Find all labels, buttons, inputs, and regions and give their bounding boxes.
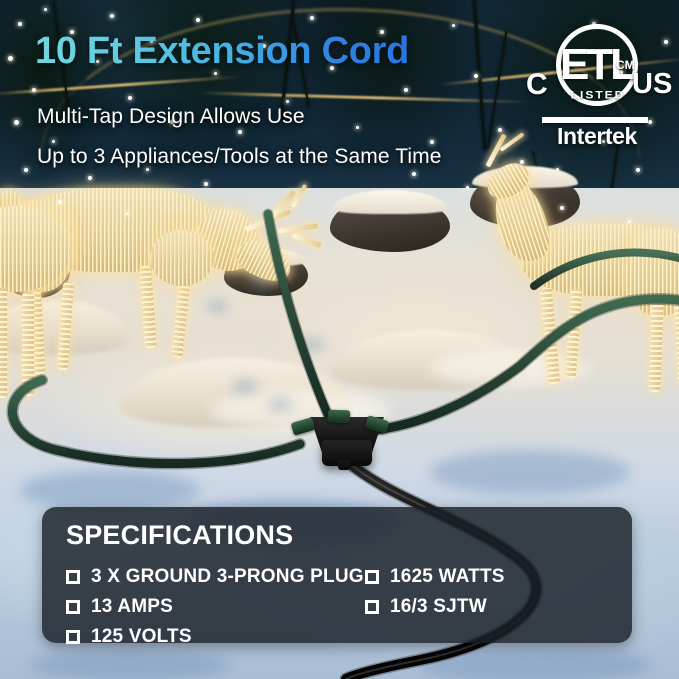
- fairy-light: [452, 24, 455, 27]
- subtitle-line-2: Up to 3 Appliances/Tools at the Same Tim…: [37, 145, 441, 169]
- product-marketing-image: 10 Ft Extension Cord Multi-Tap Design Al…: [0, 0, 679, 679]
- checkbox-icon: [66, 570, 80, 584]
- fairy-light: [520, 160, 524, 164]
- spec-list-item: 16/3 SJTW: [365, 592, 505, 622]
- specifications-panel: SPECIFICATIONS 3 X GROUND 3-PRONG PLUG 1…: [42, 507, 632, 643]
- spec-label: 1625 WATTS: [390, 566, 505, 588]
- fairy-light: [628, 220, 631, 223]
- fairy-light: [44, 8, 47, 11]
- fairy-light: [286, 100, 289, 103]
- cord-plug: [328, 410, 350, 424]
- etl-certification-badge: ETL CM LISTED C US Intertek: [520, 24, 672, 148]
- intertek-brand-text: Intertek: [542, 123, 652, 150]
- fairy-light: [238, 130, 242, 134]
- fairy-light: [24, 168, 28, 172]
- fairy-light: [430, 140, 434, 144]
- specifications-heading: SPECIFICATIONS: [66, 520, 293, 551]
- etl-us-mark: US: [632, 68, 672, 101]
- fairy-light: [126, 212, 129, 215]
- spec-label: 3 X GROUND 3-PRONG PLUG: [91, 566, 364, 588]
- specifications-left-column: 3 X GROUND 3-PRONG PLUG 13 AMPS 125 VOLT…: [66, 562, 364, 652]
- checkbox-icon: [365, 570, 379, 584]
- checkbox-icon: [66, 630, 80, 644]
- spec-list-item: 125 VOLTS: [66, 622, 364, 652]
- fairy-light: [404, 88, 408, 92]
- fairy-light: [204, 182, 208, 186]
- checkbox-icon: [365, 600, 379, 614]
- fairy-light: [560, 206, 564, 210]
- fairy-light: [556, 168, 559, 171]
- fairy-light: [110, 14, 114, 18]
- fairy-light: [32, 88, 36, 92]
- fairy-light: [52, 140, 55, 143]
- fairy-light: [14, 120, 19, 125]
- page-title: 10 Ft Extension Cord: [35, 28, 409, 74]
- fairy-light: [466, 186, 469, 189]
- fairy-light: [310, 16, 314, 20]
- subtitle-line-1: Multi-Tap Design Allows Use: [37, 105, 305, 129]
- spec-label: 16/3 SJTW: [390, 596, 487, 618]
- spec-label: 125 VOLTS: [91, 626, 192, 648]
- specifications-right-column: 1625 WATTS 16/3 SJTW: [365, 562, 505, 622]
- fairy-light: [412, 172, 416, 176]
- etl-canada-mark: C: [526, 68, 548, 102]
- fairy-light: [8, 56, 13, 61]
- spec-label: 13 AMPS: [91, 596, 173, 618]
- spec-list-item: 13 AMPS: [66, 592, 364, 622]
- fairy-light: [356, 126, 359, 129]
- fairy-light: [196, 18, 200, 22]
- spec-list-item: 1625 WATTS: [365, 562, 505, 592]
- fairy-light: [58, 200, 62, 204]
- cord-strain-relief: [338, 460, 350, 470]
- fairy-light: [128, 96, 132, 100]
- fairy-light: [474, 74, 478, 78]
- fairy-light: [88, 176, 92, 180]
- etl-listed-text: LISTED: [563, 89, 633, 102]
- checkbox-icon: [66, 600, 80, 614]
- fairy-light: [636, 168, 640, 172]
- fairy-light: [18, 22, 22, 26]
- fairy-light: [498, 128, 502, 132]
- spec-list-item: 3 X GROUND 3-PRONG PLUG: [66, 562, 364, 592]
